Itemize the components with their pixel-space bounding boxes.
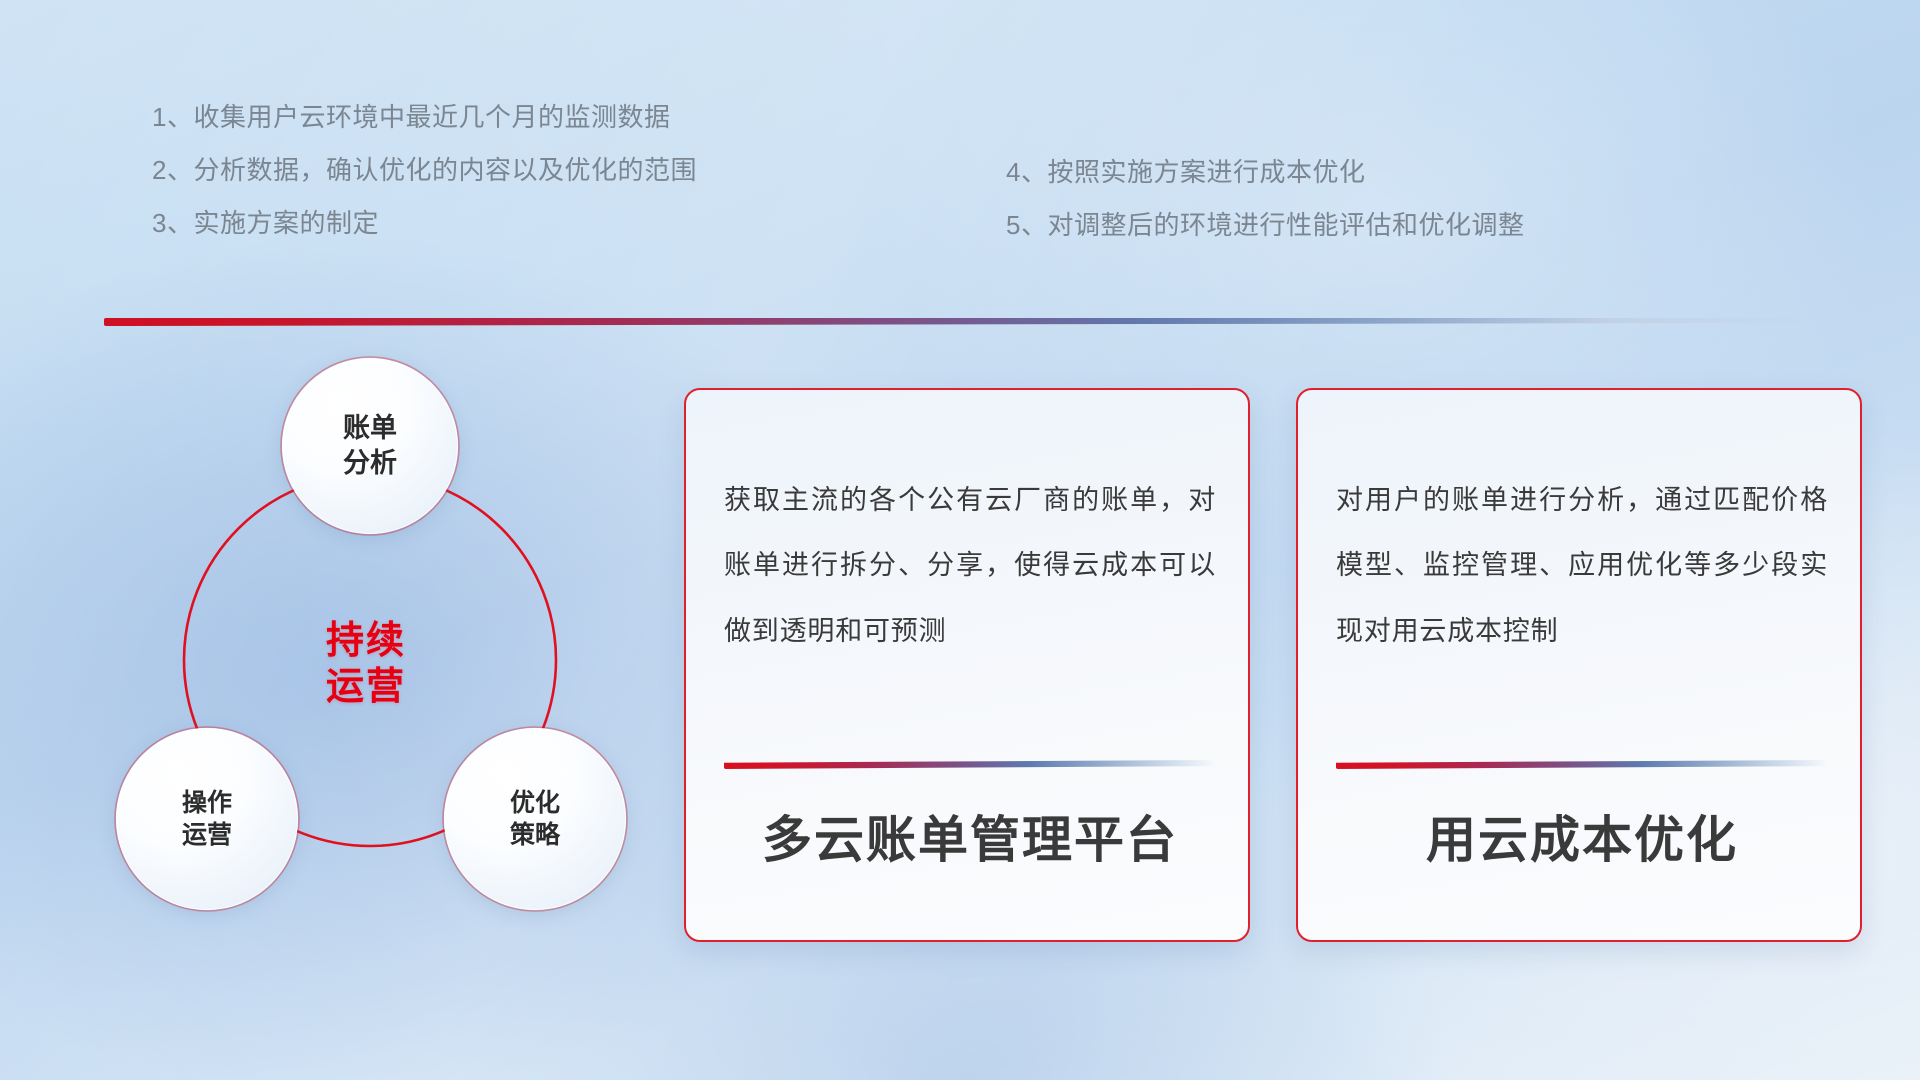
card-accent-rule — [724, 760, 1216, 769]
card-accent-rule — [1336, 760, 1828, 769]
slide-canvas: 1、收集用户云环境中最近几个月的监测数据 2、分析数据，确认优化的内容以及优化的… — [0, 0, 1920, 1080]
bubble-label-line1: 账单 — [343, 411, 397, 446]
bullet-item-5: 5、对调整后的环境进行性能评估和优化调整 — [1006, 212, 1524, 238]
info-card-multi-cloud-billing[interactable]: 获取主流的各个公有云厂商的账单，对账单进行拆分、分享，使得云成本可以做到透明和可… — [684, 388, 1250, 942]
bullet-item-4: 4、按照实施方案进行成本优化 — [1006, 159, 1524, 185]
bubble-label-line2: 策略 — [510, 819, 560, 851]
info-card-cloud-cost-optimization[interactable]: 对用户的账单进行分析，通过匹配价格模型、监控管理、应用优化等多少段实现对用云成本… — [1296, 388, 1862, 942]
center-label-line1: 持续 — [96, 618, 636, 664]
bubble-label-line2: 运营 — [182, 819, 232, 851]
card-title: 多云账单管理平台 — [724, 810, 1216, 870]
card-body-text: 获取主流的各个公有云厂商的账单，对账单进行拆分、分享，使得云成本可以做到透明和可… — [724, 468, 1216, 664]
venn-bubble-optimization-strategy[interactable]: 优化 策略 — [444, 728, 626, 910]
bubble-label-line1: 操作 — [182, 787, 232, 819]
card-body-text: 对用户的账单进行分析，通过匹配价格模型、监控管理、应用优化等多少段实现对用云成本… — [1336, 468, 1828, 664]
card-title: 用云成本优化 — [1336, 810, 1828, 870]
section-divider-line — [104, 318, 1818, 326]
venn-diagram: 账单 分析 操作 运营 优化 策略 持续 运营 — [96, 350, 636, 950]
bullet-list-left: 1、收集用户云环境中最近几个月的监测数据 2、分析数据，确认优化的内容以及优化的… — [152, 104, 697, 263]
center-label-line2: 运营 — [96, 664, 636, 710]
bullet-item-3: 3、实施方案的制定 — [152, 210, 697, 236]
venn-center-label: 持续 运营 — [96, 618, 636, 711]
bubble-label-line2: 分析 — [343, 446, 397, 481]
venn-bubble-operations[interactable]: 操作 运营 — [116, 728, 298, 910]
bullet-list-right: 4、按照实施方案进行成本优化 5、对调整后的环境进行性能评估和优化调整 — [1006, 159, 1524, 265]
bubble-label-line1: 优化 — [510, 787, 560, 819]
bullet-item-2: 2、分析数据，确认优化的内容以及优化的范围 — [152, 157, 697, 183]
venn-bubble-billing-analysis[interactable]: 账单 分析 — [282, 358, 458, 534]
bullet-item-1: 1、收集用户云环境中最近几个月的监测数据 — [152, 104, 697, 130]
